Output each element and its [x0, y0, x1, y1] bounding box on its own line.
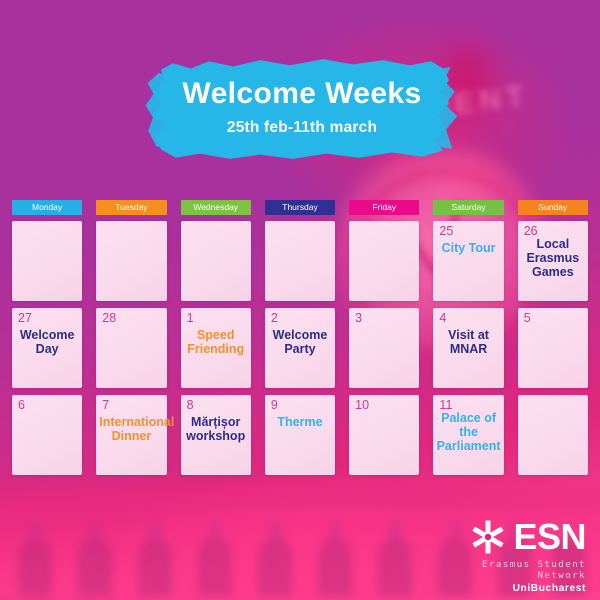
calendar-week-3: 6 7International Dinner 8Mărțișor worksh…	[12, 395, 588, 475]
day-number: 10	[355, 398, 369, 412]
calendar-cell: 3	[349, 308, 419, 388]
calendar-cell: 5	[518, 308, 588, 388]
day-number: 6	[18, 398, 25, 412]
calendar-cell: 26Local Erasmus Games	[518, 221, 588, 301]
day-number: 2	[271, 311, 278, 325]
event-label: Speed Friending	[184, 328, 248, 356]
calendar-week-2: 27Welcome Day 28 1Speed Friending 2Welco…	[12, 308, 588, 388]
day-header-thursday: Thursday	[265, 200, 335, 215]
day-header-sunday: Sunday	[518, 200, 588, 215]
event-label: International Dinner	[99, 415, 163, 443]
calendar-cell	[518, 395, 588, 475]
poster-canvas: AMENT Welcome Weeks 25th feb-11th march …	[0, 0, 600, 600]
calendar-cell	[96, 221, 166, 301]
calendar-cell: 4Visit at MNAR	[433, 308, 503, 388]
calendar-cell: 28	[96, 308, 166, 388]
calendar-cell: 11Palace of the Parliament	[433, 395, 503, 475]
day-number: 4	[439, 311, 446, 325]
esn-section-name: UniBucharest	[436, 583, 586, 594]
day-number: 1	[187, 311, 194, 325]
calendar-cell	[265, 221, 335, 301]
esn-wordmark: ESN	[513, 519, 586, 555]
esn-logo: ESN Erasmus Student Network UniBucharest	[436, 516, 586, 582]
calendar-cell: 7International Dinner	[96, 395, 166, 475]
calendar-day-headers: Monday Tuesday Wednesday Thursday Friday…	[12, 200, 588, 215]
calendar: Monday Tuesday Wednesday Thursday Friday…	[12, 200, 588, 482]
day-number: 11	[439, 398, 452, 412]
event-label: Welcome Party	[268, 328, 332, 356]
calendar-cell	[181, 221, 251, 301]
day-header-monday: Monday	[12, 200, 82, 215]
calendar-cell: 27Welcome Day	[12, 308, 82, 388]
day-header-saturday: Saturday	[433, 200, 503, 215]
day-number: 8	[187, 398, 194, 412]
calendar-cell: 25City Tour	[433, 221, 503, 301]
day-number: 5	[524, 311, 531, 325]
day-number: 3	[355, 311, 362, 325]
day-header-wednesday: Wednesday	[181, 200, 251, 215]
day-header-friday: Friday	[349, 200, 419, 215]
day-number: 26	[524, 224, 538, 238]
calendar-cell: 10	[349, 395, 419, 475]
day-number: 28	[102, 311, 116, 325]
day-number: 25	[439, 224, 453, 238]
esn-logo-top: ESN	[436, 516, 586, 558]
esn-star-icon	[470, 519, 506, 555]
calendar-cell	[349, 221, 419, 301]
calendar-cell: 2Welcome Party	[265, 308, 335, 388]
day-number: 7	[102, 398, 109, 412]
calendar-cell: 9Therme	[265, 395, 335, 475]
calendar-week-1: 25City Tour 26Local Erasmus Games	[12, 221, 588, 301]
day-number: 9	[271, 398, 278, 412]
day-number: 27	[18, 311, 32, 325]
event-label: City Tour	[436, 241, 500, 255]
day-header-tuesday: Tuesday	[96, 200, 166, 215]
event-label: Local Erasmus Games	[521, 237, 585, 279]
poster-title: Welcome Weeks	[152, 77, 452, 111]
calendar-cell: 8Mărțișor workshop	[181, 395, 251, 475]
event-label: Visit at MNAR	[436, 328, 500, 356]
title-badge: Welcome Weeks 25th feb-11th march	[152, 57, 452, 162]
calendar-cell	[12, 221, 82, 301]
calendar-cell: 1Speed Friending	[181, 308, 251, 388]
event-label: Therme	[268, 415, 332, 429]
esn-tagline: Erasmus Student Network	[436, 559, 586, 581]
event-label: Welcome Day	[15, 328, 79, 356]
event-label: Palace of the Parliament	[436, 411, 500, 453]
calendar-cell: 6	[12, 395, 82, 475]
poster-date-range: 25th feb-11th march	[152, 119, 452, 137]
background-roofline	[0, 482, 600, 508]
event-label: Mărțișor workshop	[184, 415, 248, 443]
